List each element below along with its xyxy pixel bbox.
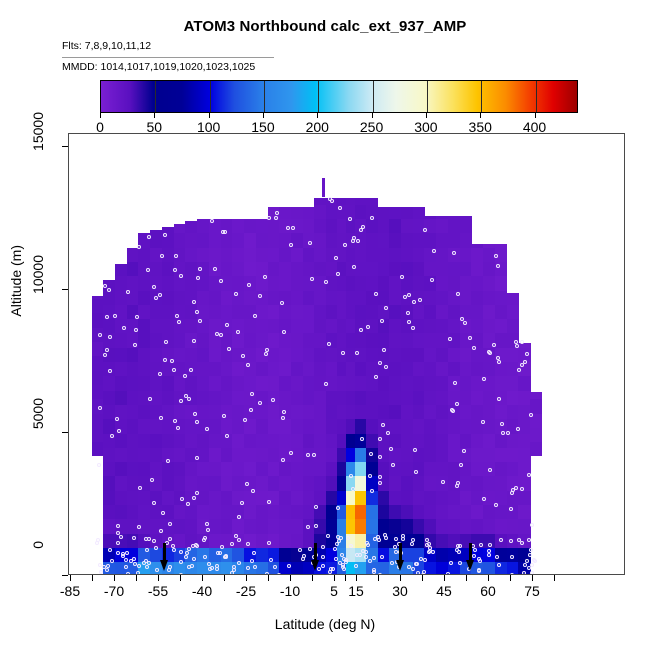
heatmap-cell — [244, 376, 256, 391]
heatmap-cell — [185, 476, 197, 491]
heatmap-cell — [507, 505, 519, 520]
heatmap-cell — [483, 290, 495, 305]
heatmap-cell — [138, 319, 150, 334]
heatmap-cell — [162, 304, 174, 319]
heatmap-cell — [197, 333, 209, 348]
heatmap-cell — [378, 390, 390, 405]
heatmap-cell — [366, 519, 378, 534]
heatmap-cell — [326, 219, 338, 234]
heatmap-cell — [232, 261, 244, 276]
heatmap-cell — [209, 347, 221, 362]
heatmap-cell — [314, 247, 326, 262]
heatmap-cell — [162, 433, 174, 448]
heatmap-cell — [424, 347, 436, 362]
sample-marker — [269, 558, 273, 562]
heatmap-cell — [244, 462, 256, 477]
heatmap-cell — [279, 376, 291, 391]
heatmap-cell — [303, 290, 315, 305]
x-axis-tick-label: 45 — [436, 583, 452, 599]
heatmap-cell — [209, 390, 221, 405]
sample-marker — [355, 351, 359, 355]
sample-marker — [136, 571, 140, 574]
sample-marker — [336, 272, 340, 276]
sample-marker — [152, 285, 156, 289]
heatmap-cell — [413, 462, 425, 477]
sample-marker — [468, 336, 472, 340]
heatmap-cell — [92, 427, 104, 442]
heatmap-cell — [401, 362, 413, 377]
heatmap-cell — [291, 376, 303, 391]
heatmap-cell — [232, 333, 244, 348]
sample-marker — [172, 548, 176, 552]
heatmap-cell — [291, 562, 303, 574]
heatmap-cells — [69, 134, 624, 574]
sample-marker — [351, 487, 355, 491]
heatmap-cell — [483, 390, 495, 405]
heatmap-cell — [162, 476, 174, 491]
heatmap-cell — [471, 247, 483, 262]
sample-marker — [168, 522, 172, 526]
heatmap-cell — [185, 247, 197, 262]
heatmap-cell — [460, 276, 472, 291]
heatmap-cell — [279, 347, 291, 362]
heatmap-cell — [413, 276, 425, 291]
heatmap-cell — [483, 562, 495, 574]
sample-marker — [240, 501, 244, 505]
colorbar-divider — [318, 81, 319, 112]
x-axis-tick-label: -10 — [280, 583, 300, 599]
heatmap-cell — [495, 244, 507, 247]
heatmap-cell — [127, 533, 139, 548]
sample-marker — [230, 571, 234, 574]
heatmap-cell — [268, 462, 280, 477]
sample-marker — [148, 397, 152, 401]
sample-marker — [400, 275, 404, 279]
sample-marker — [222, 414, 226, 418]
heatmap-cell — [127, 433, 139, 448]
sample-marker — [126, 290, 130, 294]
sample-marker — [314, 524, 318, 528]
heatmap-cell — [389, 247, 401, 262]
sample-marker — [225, 323, 229, 327]
heatmap-cell — [138, 447, 150, 462]
x-axis-tick-label: 15 — [348, 583, 364, 599]
heatmap-cell — [244, 519, 256, 534]
sample-marker — [159, 529, 163, 533]
heatmap-cell — [495, 333, 507, 348]
heatmap-cell — [185, 221, 197, 233]
sample-marker — [462, 449, 466, 453]
heatmap-cell — [127, 362, 139, 377]
sample-marker — [287, 564, 291, 568]
heatmap-cell — [448, 216, 460, 219]
heatmap-cell — [268, 419, 280, 434]
heatmap-cell — [150, 462, 162, 477]
heatmap-cell — [401, 233, 413, 248]
heatmap-cell — [115, 347, 127, 362]
sample-marker — [277, 573, 281, 574]
sample-marker — [463, 321, 467, 325]
heatmap-cell — [232, 362, 244, 377]
heatmap-cell — [483, 304, 495, 319]
heatmap-cell — [279, 462, 291, 477]
heatmap-cell — [303, 347, 315, 362]
colorbar-tick — [372, 113, 373, 118]
heatmap-cell — [291, 304, 303, 319]
heatmap-cell — [291, 462, 303, 477]
heatmap-cell — [244, 505, 256, 520]
sample-marker — [116, 551, 120, 555]
heatmap-cell — [174, 505, 186, 520]
heatmap-cell — [244, 319, 256, 334]
sample-marker — [192, 557, 196, 561]
heatmap-cell — [389, 347, 401, 362]
heatmap-cell — [471, 404, 483, 419]
heatmap-cell — [471, 505, 483, 520]
heatmap-cell — [103, 290, 115, 305]
colorbar-divider — [536, 81, 537, 112]
heatmap-cell — [221, 462, 233, 477]
heatmap-cell — [401, 490, 413, 505]
heatmap-cell — [103, 462, 115, 477]
heatmap-cell — [232, 519, 244, 534]
heatmap-cell — [424, 447, 436, 462]
heatmap-cell — [256, 433, 268, 448]
heatmap-cell — [138, 362, 150, 377]
heatmap-cell — [355, 376, 367, 391]
x-axis-tick — [202, 575, 203, 581]
heatmap-cell — [221, 490, 233, 505]
heatmap-cell — [460, 505, 472, 520]
heatmap-cell — [244, 233, 256, 248]
sample-marker — [203, 555, 207, 559]
heatmap-cell — [326, 290, 338, 305]
heatmap-cell — [162, 276, 174, 291]
heatmap-cell — [232, 390, 244, 405]
heatmap-cell — [436, 419, 448, 434]
heatmap-cell — [471, 476, 483, 491]
sample-marker — [133, 343, 137, 347]
sample-marker — [527, 473, 531, 477]
heatmap-cell — [378, 233, 390, 248]
heatmap-cell — [256, 533, 268, 548]
heatmap-cell — [303, 319, 315, 334]
heatmap-cell — [355, 276, 367, 291]
x-axis-tick — [290, 575, 291, 581]
heatmap-cell — [483, 276, 495, 291]
heatmap-cell — [221, 419, 233, 434]
sample-marker — [403, 295, 407, 299]
heatmap-cell — [436, 362, 448, 377]
sample-marker — [368, 474, 372, 478]
heatmap-cell — [291, 290, 303, 305]
heatmap-cell — [401, 247, 413, 262]
heatmap-cell — [378, 547, 390, 562]
heatmap-cell — [115, 362, 127, 377]
heatmap-cell — [103, 490, 115, 505]
heatmap-cell — [495, 433, 507, 448]
heatmap-cell — [507, 447, 519, 462]
x-axis-minor-tick — [422, 575, 423, 581]
heatmap-cell — [291, 447, 303, 462]
heatmap-cell — [232, 219, 244, 234]
heatmap-cell — [256, 419, 268, 434]
heatmap-cell — [389, 219, 401, 234]
heatmap-cell — [185, 433, 197, 448]
heatmap-cell — [483, 505, 495, 520]
heatmap-cell — [221, 261, 233, 276]
heatmap-cell — [314, 347, 326, 362]
heatmap-cell — [103, 319, 115, 334]
heatmap-cell — [314, 404, 326, 419]
heatmap-cell — [221, 505, 233, 520]
sample-marker — [370, 489, 374, 493]
x-axis-minor-tick — [136, 575, 137, 581]
sample-marker — [497, 397, 501, 401]
heatmap-cell — [389, 376, 401, 391]
heatmap-cell — [279, 276, 291, 291]
heatmap-cell — [127, 376, 139, 391]
heatmap-cell — [471, 276, 483, 291]
heatmap-cell — [326, 233, 338, 248]
sample-marker — [378, 437, 382, 441]
heatmap-cell — [460, 376, 472, 391]
heatmap-cell — [256, 505, 268, 520]
sample-marker — [344, 558, 348, 562]
sample-marker — [95, 541, 99, 545]
heatmap-cell — [150, 261, 162, 276]
heatmap-cell — [378, 207, 390, 219]
heatmap-cell — [138, 490, 150, 505]
heatmap-cell — [389, 261, 401, 276]
heatmap-cell — [518, 447, 530, 462]
x-axis-tick-label: 30 — [392, 583, 408, 599]
heatmap-cell — [244, 447, 256, 462]
heatmap-cell — [103, 476, 115, 491]
sample-marker — [338, 561, 342, 565]
heatmap-cell — [460, 390, 472, 405]
heatmap-cell — [518, 433, 530, 448]
heatmap-cell — [448, 490, 460, 505]
x-axis-tick — [246, 575, 247, 581]
heatmap-cell — [389, 290, 401, 305]
profile-arrow — [466, 543, 475, 571]
heatmap-cell — [291, 433, 303, 448]
heatmap-cell — [471, 519, 483, 534]
heatmap-cell — [150, 319, 162, 334]
heatmap-cell — [366, 419, 378, 434]
heatmap-cell — [244, 333, 256, 348]
heatmap-cell — [401, 219, 413, 234]
sample-marker — [506, 431, 510, 435]
sample-marker — [145, 565, 149, 569]
heatmap-cell — [378, 376, 390, 391]
heatmap-cell — [471, 244, 483, 247]
sample-marker — [274, 216, 278, 220]
heatmap-cell — [389, 233, 401, 248]
heatmap-cell — [232, 276, 244, 291]
heatmap-cell — [197, 404, 209, 419]
heatmap-cell — [303, 261, 315, 276]
sample-marker — [227, 347, 231, 351]
heatmap-cell — [424, 490, 436, 505]
heatmap-cell — [174, 447, 186, 462]
heatmap-cell — [413, 476, 425, 491]
heatmap-cell — [127, 390, 139, 405]
heatmap-cell — [244, 347, 256, 362]
heatmap-cell — [103, 390, 115, 405]
sample-marker — [334, 557, 338, 561]
heatmap-cell — [127, 490, 139, 505]
heatmap-cell — [366, 347, 378, 362]
heatmap-cell — [209, 404, 221, 419]
x-axis-minor-tick — [224, 575, 225, 581]
heatmap-cell — [413, 390, 425, 405]
sample-marker — [529, 548, 533, 552]
y-axis-tick-label: 0 — [30, 541, 46, 549]
sample-marker — [126, 572, 130, 574]
x-axis-minor-tick — [268, 575, 269, 581]
profile-arrow — [160, 543, 169, 571]
heatmap-cell — [127, 347, 139, 362]
heatmap-cell — [448, 362, 460, 377]
sample-marker — [411, 326, 415, 330]
heatmap-cell — [197, 462, 209, 477]
heatmap-cell — [530, 392, 542, 399]
heatmap-cell — [268, 304, 280, 319]
heatmap-cell — [518, 419, 530, 434]
heatmap-cell — [303, 505, 315, 520]
heatmap-cell — [401, 462, 413, 477]
heatmap-cell — [314, 476, 326, 491]
heatmap-cell — [268, 333, 280, 348]
heatmap-cell — [436, 505, 448, 520]
heatmap-cell — [471, 304, 483, 319]
heatmap-cell — [424, 304, 436, 319]
heatmap-cell — [424, 476, 436, 491]
heatmap-cell — [303, 207, 315, 219]
heatmap-cell — [436, 319, 448, 334]
heatmap-cell — [314, 304, 326, 319]
sample-marker — [527, 538, 531, 542]
sample-marker — [308, 241, 312, 245]
colorbar-gradient — [101, 81, 577, 112]
heatmap-cell — [507, 462, 519, 477]
heatmap-cell — [483, 362, 495, 377]
heatmap-cell — [355, 247, 367, 262]
heatmap-cell — [291, 505, 303, 520]
heatmap-cell — [279, 490, 291, 505]
heatmap-cell — [436, 276, 448, 291]
heatmap-cell — [150, 390, 162, 405]
sample-marker — [164, 340, 168, 344]
sample-marker — [401, 537, 405, 541]
heatmap-cell — [162, 404, 174, 419]
heatmap-cell — [256, 519, 268, 534]
heatmap-cell — [268, 347, 280, 362]
heatmap-cell — [326, 433, 338, 448]
heatmap-cell — [495, 290, 507, 305]
sample-marker — [232, 565, 236, 569]
heatmap-cell — [314, 290, 326, 305]
heatmap-cell — [303, 404, 315, 419]
heatmap-cell — [244, 261, 256, 276]
sample-marker — [265, 348, 269, 352]
heatmap-cell — [378, 247, 390, 262]
x-axis-minor-tick — [466, 575, 467, 581]
heatmap-cell — [448, 276, 460, 291]
heatmap-cell — [279, 433, 291, 448]
sample-marker — [394, 537, 398, 541]
heatmap-cell — [209, 319, 221, 334]
sample-marker — [105, 568, 109, 572]
sample-marker — [523, 360, 527, 364]
heatmap-cell — [268, 276, 280, 291]
heatmap-cell — [436, 216, 448, 219]
heatmap-cell — [326, 204, 338, 219]
heatmap-cell — [448, 433, 460, 448]
sample-marker — [246, 542, 250, 546]
heatmap-cell — [174, 533, 186, 548]
sample-marker — [451, 409, 455, 413]
header-divider — [62, 57, 274, 58]
sample-marker — [355, 553, 359, 557]
sample-marker — [97, 463, 101, 467]
heatmap-cell — [413, 247, 425, 262]
heatmap-cell — [326, 319, 338, 334]
profile-arrow — [396, 543, 405, 571]
heatmap-cell — [150, 433, 162, 448]
heatmap-cell — [401, 476, 413, 491]
heatmap-cell — [279, 505, 291, 520]
heatmap-cell — [448, 347, 460, 362]
y-axis-tick-label: 15000 — [30, 112, 46, 151]
heatmap-cell — [530, 442, 542, 457]
heatmap-cell — [209, 276, 221, 291]
heatmap-cell — [232, 247, 244, 262]
sample-marker — [155, 568, 159, 572]
heatmap-cell — [424, 419, 436, 434]
heatmap-cell — [507, 519, 519, 534]
heatmap-cell — [268, 247, 280, 262]
heatmap-cell — [424, 290, 436, 305]
heatmap-cell — [174, 290, 186, 305]
heatmap-cell — [366, 404, 378, 419]
heatmap-cell — [507, 433, 519, 448]
heatmap-cell — [138, 290, 150, 305]
heatmap-cell — [209, 290, 221, 305]
heatmap-cell — [138, 276, 150, 291]
heatmap-cell — [436, 433, 448, 448]
heatmap-cell — [366, 276, 378, 291]
heatmap-cell — [355, 519, 367, 534]
heatmap-cell — [355, 490, 367, 505]
heatmap-cell — [92, 313, 104, 328]
heatmap-cell — [366, 219, 378, 234]
sample-marker — [187, 397, 191, 401]
heatmap-cell — [355, 290, 367, 305]
heatmap-cell — [366, 261, 378, 276]
heatmap-cell — [279, 362, 291, 377]
y-axis-tick-label: 10000 — [30, 255, 46, 294]
heatmap-cell — [389, 207, 401, 219]
heatmap-cell — [436, 219, 448, 234]
heatmap-cell — [256, 319, 268, 334]
heatmap-cell — [530, 427, 542, 442]
heatmap-cell — [197, 233, 209, 248]
heatmap-cell — [103, 505, 115, 520]
heatmap-cell — [355, 447, 367, 462]
